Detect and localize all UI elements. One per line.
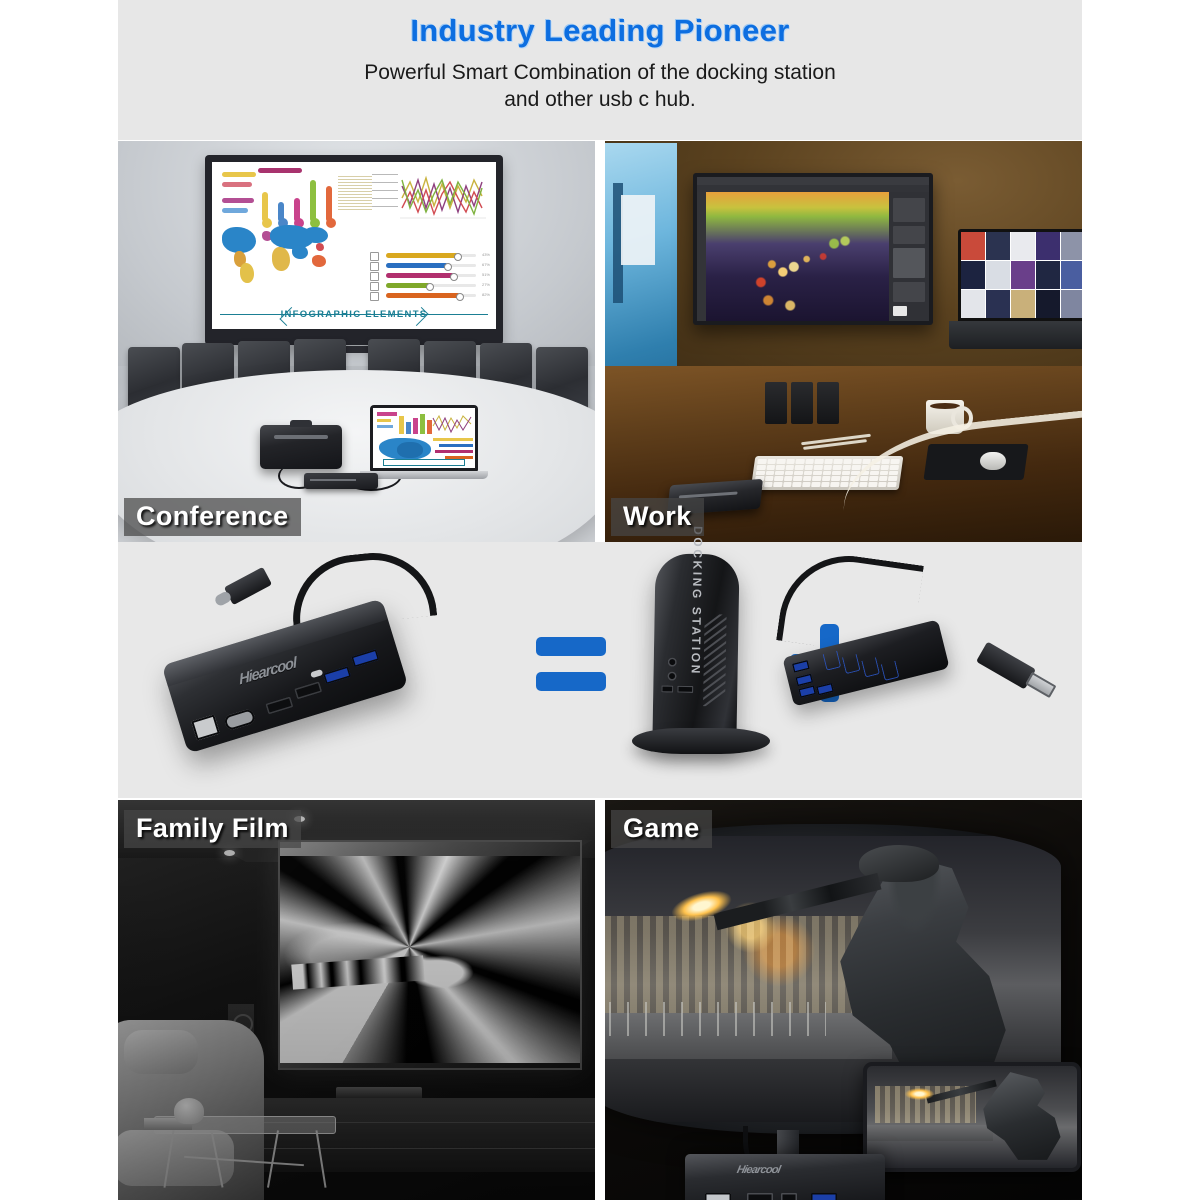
home-theater-screen	[278, 840, 582, 1070]
laptop-screen-content	[373, 408, 475, 468]
poster-sheet	[621, 195, 655, 265]
infographic-line-chart	[372, 168, 490, 226]
equation-row: Hiearcool DOCKING STATION	[118, 542, 1082, 798]
equation-band: Hiearcool DOCKING STATION	[118, 542, 1082, 798]
header-band: Industry Leading Pioneer Powerful Smart …	[118, 0, 1082, 140]
hub-switch-4[interactable]	[881, 661, 900, 681]
docking-station-base	[632, 728, 770, 754]
panel-family-film: Family Film	[118, 800, 595, 1200]
hub-port-3	[798, 685, 816, 698]
panel-label-game: Game	[611, 810, 712, 848]
port-type-c	[310, 669, 323, 678]
ceiling-light-2	[224, 850, 235, 856]
infographic-world-map	[220, 221, 340, 287]
work-laptop	[958, 229, 1082, 349]
photo-editor-window	[697, 177, 929, 321]
work-laptop-keyboard	[949, 321, 1082, 349]
panel-game: Hiearcool Game	[605, 800, 1082, 1200]
game-hub-port-2	[747, 1193, 773, 1200]
laptop-screen	[370, 405, 478, 471]
infographic-title: INFOGRAPHIC ELEMENTS	[281, 309, 428, 320]
hub-port-1	[792, 660, 810, 673]
panel-work: Work	[605, 141, 1082, 542]
port-usb3-1	[323, 666, 351, 684]
panel-label-family-film: Family Film	[124, 810, 301, 848]
port-usb3-2	[351, 649, 379, 667]
smartphone	[863, 1062, 1081, 1172]
desk-accessory-boxes	[765, 382, 841, 426]
docking-station-product: DOCKING STATION	[652, 553, 739, 744]
smartphone-screen	[867, 1066, 1077, 1168]
hub-port-2	[795, 674, 813, 687]
editor-menubar	[697, 177, 929, 185]
conference-laptop	[370, 405, 488, 479]
hub-switch-3[interactable]	[861, 657, 880, 677]
usb-c-connector	[224, 567, 272, 605]
game-fence	[605, 1002, 826, 1036]
game-background-city	[605, 916, 864, 1013]
port-usb-a-2	[294, 681, 322, 699]
editor-options-bar	[697, 185, 929, 192]
editor-panels	[889, 192, 929, 321]
game-hub-port-4	[811, 1193, 837, 1200]
panel-label-conference: Conference	[124, 498, 301, 536]
bottom-photo-band: Family Film	[118, 800, 1082, 1200]
game-hub-port-1	[705, 1193, 731, 1200]
conference-display-screen: 43% 67% 51%	[212, 162, 496, 329]
docking-station-vents	[703, 614, 727, 706]
hub-port-4	[816, 683, 834, 696]
movie-mech-character	[278, 856, 582, 1064]
panel-label-work: Work	[611, 498, 704, 536]
conference-wall-display: 43% 67% 51%	[205, 155, 503, 345]
laptop-keyboard	[360, 471, 488, 479]
port-vga	[223, 708, 256, 731]
laptop-gallery-grid	[961, 232, 1082, 318]
product-infographic-page: Industry Leading Pioneer Powerful Smart …	[0, 0, 1200, 1200]
hub-switch-1[interactable]	[823, 651, 842, 671]
page-subtitle: Powerful Smart Combination of the dockin…	[364, 60, 836, 114]
docking-station-label: DOCKING STATION	[689, 526, 706, 676]
top-photo-band: 43% 67% 51%	[118, 141, 1082, 542]
work-laptop-screen	[958, 229, 1082, 321]
panel-conference: 43% 67% 51%	[118, 141, 595, 542]
conference-projector	[260, 425, 342, 469]
docking-station-ports	[661, 685, 693, 702]
desk-pens	[801, 438, 877, 446]
hub-switch-2[interactable]	[842, 654, 861, 674]
work-monitor	[693, 173, 933, 325]
conference-usb-hub	[304, 473, 378, 489]
equals-sign-icon	[536, 637, 606, 691]
game-hub-port-3	[781, 1193, 797, 1200]
port-usb-a-1	[265, 696, 293, 714]
editor-toolbar	[697, 192, 706, 321]
usb-c-hub-product: Hiearcool	[162, 598, 409, 753]
usb-a-connector	[976, 642, 1036, 690]
cushion-1	[124, 1030, 198, 1074]
game-hub-brand-logo: Hiearcool	[736, 1164, 781, 1176]
editor-canvas	[706, 192, 889, 321]
game-usb-hub: Hiearcool	[685, 1154, 885, 1200]
subtitle-line-1: Powerful Smart Combination of the dockin…	[364, 60, 836, 87]
infographic-progress-bars: 43% 67% 51%	[370, 253, 490, 299]
subtitle-line-2: and other usb c hub.	[364, 87, 836, 114]
port-rj45	[191, 714, 220, 740]
decorative-vase	[174, 1098, 204, 1124]
page-title: Industry Leading Pioneer	[410, 14, 789, 48]
